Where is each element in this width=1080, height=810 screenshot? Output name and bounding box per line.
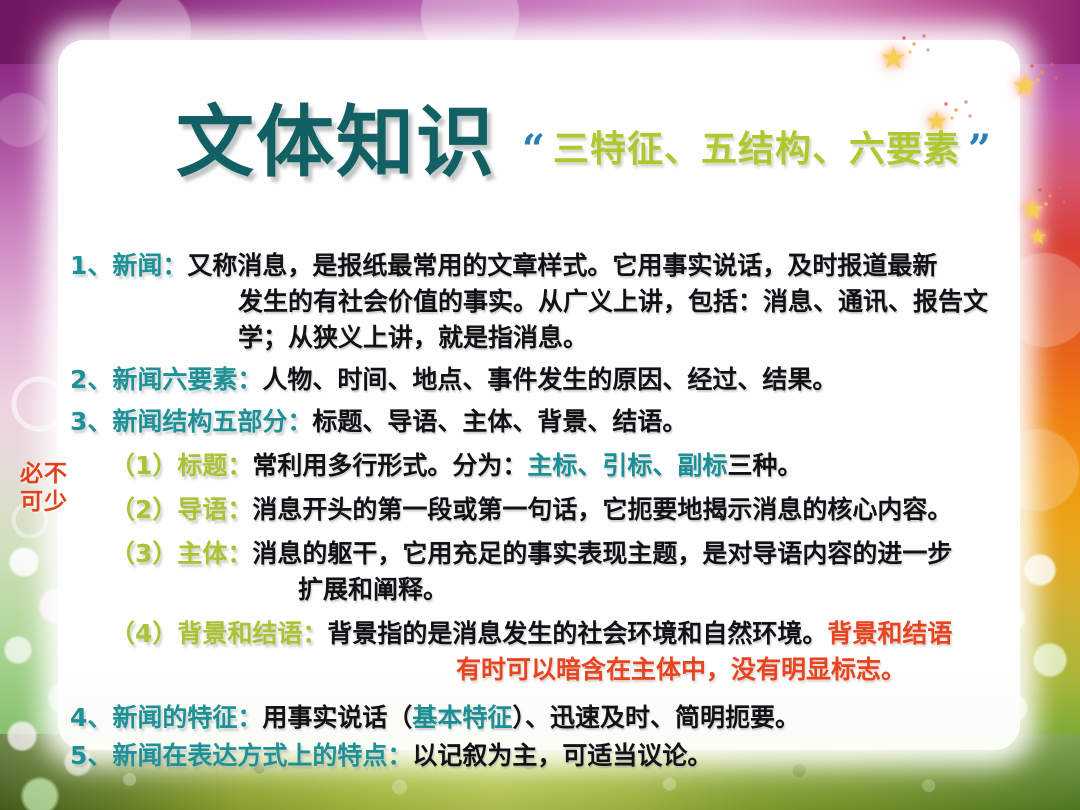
open-quote-icon: “ <box>522 130 545 170</box>
sub-item-1-text-a: 常利用多行形式。分为： <box>252 451 527 480</box>
item-4-text-a: 用事实说话（ <box>262 703 412 732</box>
item-1-text-3: 学；从狭义上讲，就是指消息。 <box>238 323 588 352</box>
item-2-label: 2、新闻六要素： <box>70 365 262 394</box>
sub-item-2-label: （2）导语： <box>110 495 252 524</box>
page-title: 文体知识 <box>176 104 496 182</box>
sub-item-4-label: （4）背景和结语： <box>110 619 327 648</box>
item-5-text: 以记叙为主，可适当议论。 <box>412 741 712 770</box>
sub-item-3-text-2: 扩展和阐释。 <box>298 575 448 604</box>
list-item-4: 4、新闻的特征：用事实说话（基本特征）、迅速及时、简明扼要。 <box>70 700 1030 736</box>
close-quote-icon: ” <box>968 130 991 170</box>
sub-item-2-text: 消息开头的第一段或第一句话，它扼要地揭示消息的核心内容。 <box>252 495 952 524</box>
sub-item-1-text-emphasis: 主标、引标、副标 <box>527 451 727 480</box>
page-subtitle: 三特征、五结构、六要素 <box>553 132 960 168</box>
list-item-1-line-1: 1、新闻：又称消息，是报纸最常用的文章样式。它用事实说话，及时报道最新 <box>70 248 1030 284</box>
title-row: 文体知识 “ 三特征、五结构、六要素 ” <box>0 104 1080 182</box>
item-3-text: 标题、导语、主体、背景、结语。 <box>312 407 687 436</box>
list-item-5: 5、新闻在表达方式上的特点：以记叙为主，可适当议论。 <box>70 738 1030 774</box>
item-4-text-b: ）、迅速及时、简明扼要。 <box>512 703 800 732</box>
item-5-label: 5、新闻在表达方式上的特点： <box>70 741 412 770</box>
sub-item-3-text-1: 消息的躯干，它用充足的事实表现主题，是对导语内容的进一步 <box>252 539 952 568</box>
sub-item-4-line-2: 有时可以暗含在主体中，没有明显标志。 <box>70 652 1030 688</box>
sub-item-4-text-red-1: 背景和结语 <box>827 619 952 648</box>
sub-item-3-line-2: 扩展和阐释。 <box>70 572 1030 608</box>
sub-item-2: （2）导语：消息开头的第一段或第一句话，它扼要地揭示消息的核心内容。 <box>70 492 1030 528</box>
list-item-3: 3、新闻结构五部分：标题、导语、主体、背景、结语。 <box>70 404 1030 440</box>
sub-item-4-text-a: 背景指的是消息发生的社会环境和自然环境。 <box>327 619 827 648</box>
item-4-label: 4、新闻的特征： <box>70 703 262 732</box>
item-4-text-emphasis: 基本特征 <box>412 703 512 732</box>
body-content: 1、新闻：又称消息，是报纸最常用的文章样式。它用事实说话，及时报道最新 发生的有… <box>70 248 1030 774</box>
item-3-label: 3、新闻结构五部分： <box>70 407 312 436</box>
item-2-text: 人物、时间、地点、事件发生的原因、经过、结果。 <box>262 365 837 394</box>
list-item-1-line-3: 学；从狭义上讲，就是指消息。 <box>70 320 1030 356</box>
sub-item-4-text-red-2: 有时可以暗含在主体中，没有明显标志。 <box>456 655 906 684</box>
item-1-text-1: 又称消息，是报纸最常用的文章样式。它用事实说话，及时报道最新 <box>187 251 937 280</box>
list-item-2: 2、新闻六要素：人物、时间、地点、事件发生的原因、经过、结果。 <box>70 362 1030 398</box>
subtitle-group: “ 三特征、五结构、六要素 ” <box>522 130 991 182</box>
sub-item-1-text-b: 三种。 <box>727 451 802 480</box>
sub-item-1: （1）标题：常利用多行形式。分为：主标、引标、副标三种。 <box>70 448 1030 484</box>
sub-item-3-line-1: （3）主体：消息的躯干，它用充足的事实表现主题，是对导语内容的进一步 <box>70 536 1030 572</box>
sub-item-4-line-1: （4）背景和结语：背景指的是消息发生的社会环境和自然环境。背景和结语 <box>70 616 1030 652</box>
sub-item-1-label: （1）标题： <box>110 451 252 480</box>
slide-canvas: ★ ★ ★ ★ ★ 文体知识 “ 三特征、五结构、六要素 ” 必不可少 1、新闻… <box>0 0 1080 810</box>
item-1-label: 1、新闻： <box>70 251 187 280</box>
item-1-text-2: 发生的有社会价值的事实。从广义上讲，包括：消息、通讯、报告文 <box>238 287 988 316</box>
list-item-1-line-2: 发生的有社会价值的事实。从广义上讲，包括：消息、通讯、报告文 <box>70 284 1030 320</box>
sub-item-3-label: （3）主体： <box>110 539 252 568</box>
